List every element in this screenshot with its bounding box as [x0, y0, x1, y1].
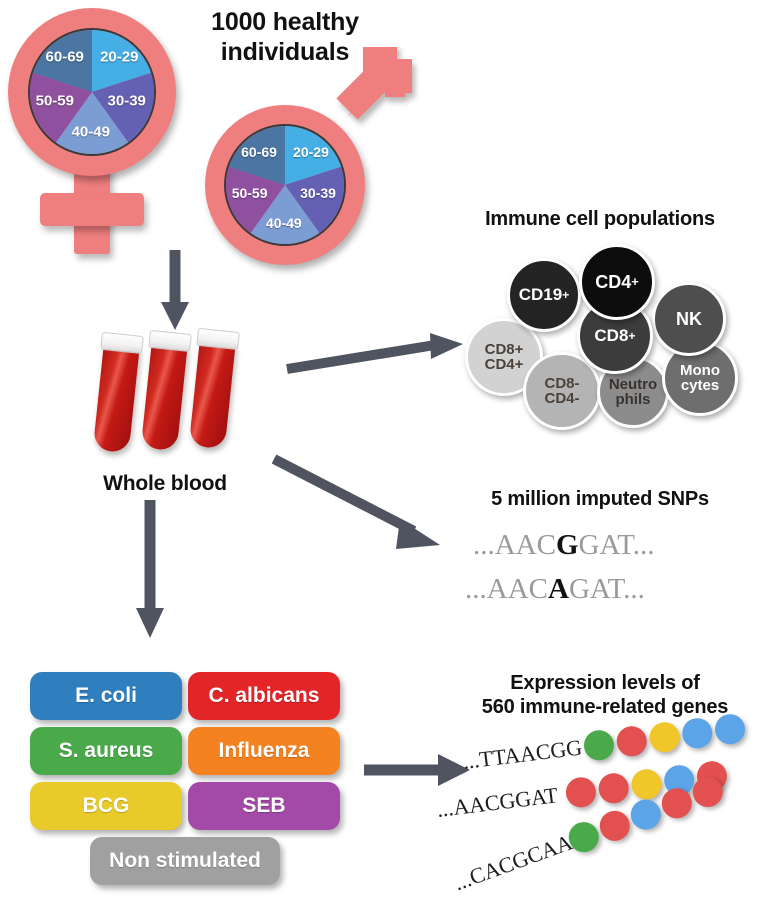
- blood-tube-fill: [189, 340, 236, 449]
- immune-cell-nk: NK: [652, 282, 726, 356]
- stimulation-box-non-stimulated[interactable]: Non stimulated: [90, 837, 280, 885]
- immune-cell-label: CD8: [594, 327, 628, 344]
- stimulation-box-e-coli[interactable]: E. coli: [30, 672, 182, 720]
- expression-title-line1: Expression levels of: [450, 672, 760, 696]
- snp-prefix: ...AAC: [465, 573, 548, 605]
- expression-strands-group: ...TTAACGG ...AACGGAT ...CACGCAA: [445, 715, 765, 915]
- stimulation-label: Non stimulated: [109, 849, 261, 873]
- expression-title: Expression levels of 560 immune-related …: [450, 672, 760, 719]
- immune-cell-label: NK: [676, 310, 702, 328]
- snp-suffix: GAT...: [579, 529, 655, 561]
- snp-sequence-row: ...AACAGAT...: [465, 573, 645, 606]
- expression-bead: [596, 807, 634, 845]
- male-pie-label-50-59: 50-59: [232, 185, 268, 201]
- snps-title: 5 million imputed SNPs: [440, 488, 760, 512]
- male-gender-symbol: 20-29 30-39 40-49 50-59 60-69: [205, 95, 435, 275]
- expression-strand-sequence: ...CACGCAA: [451, 829, 576, 896]
- immune-cell-label: CD19: [519, 286, 562, 303]
- female-pie-label-60-69: 60-69: [46, 49, 84, 66]
- expression-bead: [648, 721, 681, 754]
- immune-cell-populations-group: CD8+ CD4+ CD8- CD4- Neutro phils Mono cy…: [455, 240, 765, 430]
- blood-tube-fill: [93, 344, 140, 453]
- expression-bead: [597, 772, 630, 805]
- stimulation-box-bcg[interactable]: BCG: [30, 782, 182, 830]
- stimulation-box-c-albicans[interactable]: C. albicans: [188, 672, 340, 720]
- arrow-blood-to-stimulation: [130, 500, 170, 640]
- expression-bead: [615, 725, 648, 758]
- expression-bead: [689, 773, 727, 811]
- expression-bead: [713, 713, 746, 746]
- arrow-blood-to-immune: [285, 333, 467, 381]
- female-symbol-cross: [40, 193, 144, 226]
- snp-prefix: ...AAC: [473, 529, 556, 561]
- male-pie-label-20-29: 20-29: [293, 144, 329, 160]
- stimulation-label: SEB: [242, 794, 285, 818]
- blood-tube-fill: [141, 342, 188, 451]
- blood-tube-icon: [93, 332, 141, 453]
- male-pie-label-60-69: 60-69: [241, 144, 277, 160]
- stimulation-label: S. aureus: [59, 739, 154, 763]
- snp-highlight: G: [556, 529, 579, 561]
- blood-tube-icon: [189, 328, 237, 449]
- stimulation-label: BCG: [83, 794, 130, 818]
- immune-cell-label: Mono cytes: [665, 363, 735, 394]
- stimulation-box-seb[interactable]: SEB: [188, 782, 340, 830]
- male-age-pie-chart: 20-29 30-39 40-49 50-59 60-69: [224, 124, 346, 246]
- snp-sequence-row: ...AACGGAT...: [473, 529, 655, 562]
- arrow-cohort-to-blood: [155, 250, 195, 332]
- expression-strand-sequence: ...AACGGAT: [435, 782, 559, 823]
- expression-bead: [681, 717, 714, 750]
- stimulation-conditions-group: E. coli C. albicans S. aureus Influenza …: [30, 672, 350, 892]
- male-pie-label-40-49: 40-49: [266, 215, 302, 231]
- expression-strand-sequence: ...TTAACGG: [461, 734, 583, 774]
- arrow-blood-to-snps: [272, 455, 450, 553]
- snp-suffix: GAT...: [569, 573, 645, 605]
- immune-cell-label: CD8- CD4-: [526, 376, 598, 407]
- snp-highlight: A: [548, 573, 569, 605]
- stimulation-label: Influenza: [218, 739, 309, 763]
- female-pie-label-20-29: 20-29: [100, 49, 138, 66]
- expression-bead: [564, 776, 597, 809]
- stimulation-box-influenza[interactable]: Influenza: [188, 727, 340, 775]
- stimulation-box-s-aureus[interactable]: S. aureus: [30, 727, 182, 775]
- stimulation-label: E. coli: [75, 684, 137, 708]
- female-gender-symbol: 20-29 30-39 40-49 50-59 60-69: [8, 8, 208, 258]
- snp-sequences-group: ...AACGGAT... ...AACAGAT...: [455, 525, 755, 625]
- blood-tubes-group: [105, 330, 285, 470]
- expression-bead: [658, 784, 696, 822]
- immune-cell-cd19pos: CD19+: [507, 258, 581, 332]
- expression-bead: [627, 795, 665, 833]
- expression-bead: [582, 729, 615, 762]
- immune-cell-populations-title: Immune cell populations: [440, 208, 760, 232]
- figure-canvas: 1000 healthy individuals 20-29 30-39 40-…: [0, 0, 771, 922]
- whole-blood-label: Whole blood: [60, 472, 270, 497]
- immune-cell-cd4pos: CD4+: [579, 244, 655, 320]
- immune-cell-label: CD4: [595, 273, 631, 291]
- male-pie-label-30-39: 30-39: [300, 185, 336, 201]
- immune-cell-label: Neutro phils: [600, 377, 666, 408]
- female-pie-label-30-39: 30-39: [108, 92, 146, 109]
- female-pie-label-40-49: 40-49: [72, 123, 110, 140]
- female-age-pie-chart: 20-29 30-39 40-49 50-59 60-69: [28, 28, 156, 156]
- stimulation-label: C. albicans: [209, 684, 320, 708]
- female-pie-label-50-59: 50-59: [36, 92, 74, 109]
- blood-tube-icon: [141, 330, 189, 451]
